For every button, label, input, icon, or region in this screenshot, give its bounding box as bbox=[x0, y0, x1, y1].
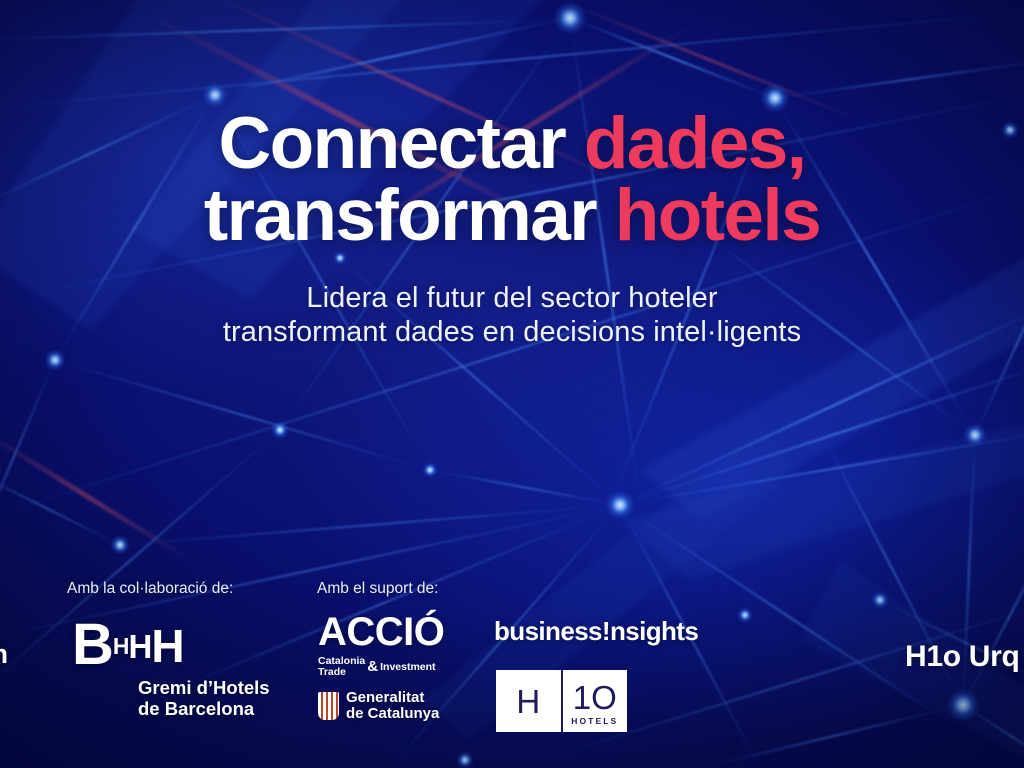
accio-generalitat-logo: ACCIÓ Catalonia Trade & Investment Gener… bbox=[318, 612, 478, 723]
business-insights-logo: business!nsights bbox=[494, 618, 698, 644]
headline-line2-accent: hotels bbox=[615, 175, 820, 256]
page-title: Connectar dades, transformar hotels bbox=[0, 108, 1024, 253]
accio-tagline-line2: Trade bbox=[318, 667, 365, 678]
accio-tagline: Catalonia Trade & Investment bbox=[318, 656, 478, 679]
subtitle-line1: Lidera el futur del sector hoteler bbox=[306, 282, 717, 314]
cropped-left-line1: m bbox=[0, 639, 8, 669]
gremi-name-line1: Gremi d’Hotels bbox=[138, 678, 270, 699]
cropped-text-left: m r bbox=[0, 636, 8, 705]
gremi-mark-h2: H bbox=[129, 628, 152, 665]
support-label: Amb el suport de: bbox=[317, 580, 438, 598]
headline-line1-white: Connectar bbox=[219, 103, 584, 184]
generalitat-text: Generalitat de Catalunya bbox=[346, 690, 439, 724]
generalitat-line2: de Catalunya bbox=[346, 706, 439, 723]
cropped-left-line2: r bbox=[0, 672, 8, 704]
gremi-name-line2: de Barcelona bbox=[138, 699, 270, 720]
h10-hotels-logo: H 1O HOTELS bbox=[496, 670, 627, 732]
headline-line2-white: transformar bbox=[204, 175, 615, 256]
accio-tagline-tail: Investment bbox=[380, 662, 435, 674]
gremi-mark-h3: H bbox=[151, 620, 183, 672]
collaboration-label: Amb la col·laboració de: bbox=[67, 580, 233, 598]
subtitle-line2: transformant dades en decisions intel·li… bbox=[0, 316, 1024, 350]
gremi-logo-name: Gremi d’Hotels de Barcelona bbox=[138, 678, 270, 719]
h10-left-cell: H bbox=[496, 670, 563, 732]
senyera-shield-icon bbox=[318, 692, 339, 720]
cropped-text-right: H1o Urq bbox=[905, 642, 1020, 672]
business-insights-wordmark: business!nsights bbox=[494, 618, 698, 644]
h10-caption: HOTELS bbox=[563, 716, 628, 726]
gremi-hotels-barcelona-logo: BHHH Gremi d’Hotels de Barcelona bbox=[72, 616, 272, 726]
h10-right-cell: 1O HOTELS bbox=[563, 670, 628, 732]
h10-number: 1O bbox=[573, 681, 617, 714]
h10-letter: H bbox=[516, 685, 540, 718]
generalitat-lockup: Generalitat de Catalunya bbox=[318, 690, 478, 724]
generalitat-line1: Generalitat bbox=[346, 690, 439, 707]
headline-line1-accent: dades, bbox=[584, 103, 806, 184]
page-subtitle: Lidera el futur del sector hoteler trans… bbox=[0, 282, 1024, 349]
gremi-logo-mark: BHHH bbox=[72, 616, 184, 674]
gremi-mark-b: B bbox=[72, 612, 113, 677]
accio-tagline-ampersand: & bbox=[367, 659, 378, 676]
accio-wordmark: ACCIÓ bbox=[318, 612, 478, 652]
slide-content: Connectar dades, transformar hotels Lide… bbox=[0, 0, 1024, 768]
gremi-mark-h1: H bbox=[113, 633, 129, 659]
